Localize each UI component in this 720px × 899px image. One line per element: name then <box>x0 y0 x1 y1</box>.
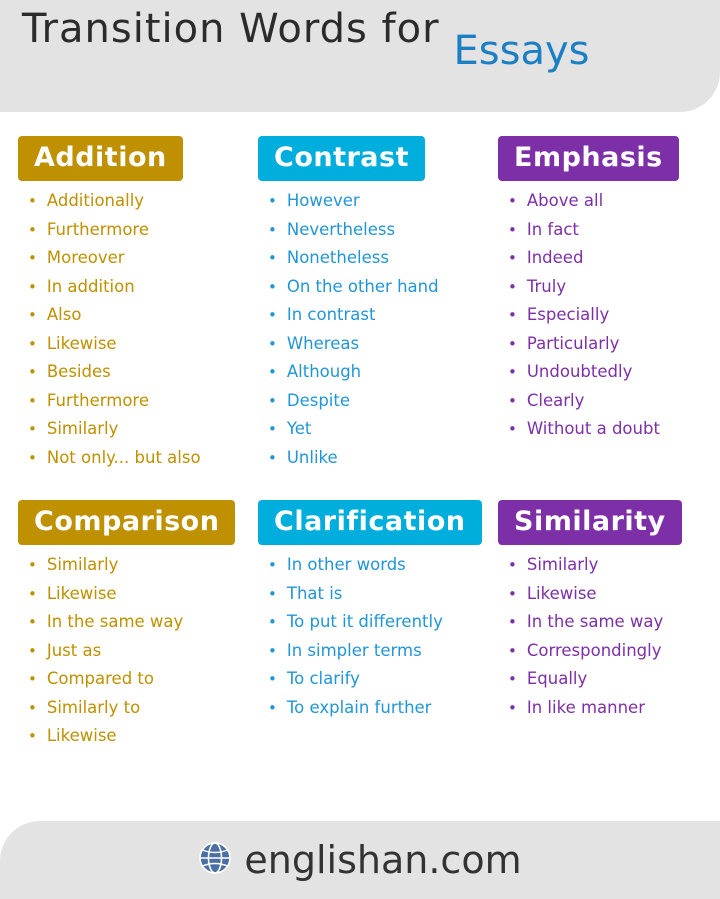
card-title-comparison: Comparison <box>18 500 235 545</box>
list-item-label: Nonetheless <box>287 250 389 267</box>
category-grid: Addition •Additionally •Furthermore •Mor… <box>0 112 720 757</box>
list-item: •Compared to <box>28 671 250 688</box>
list-item-label: Clearly <box>527 393 585 410</box>
list-item: •Likewise <box>28 336 250 353</box>
list-item: •To explain further <box>268 700 490 717</box>
list-item-label: In like manner <box>527 700 645 717</box>
list-item: •Not only... but also <box>28 450 250 467</box>
list-item-label: Additionally <box>47 193 144 210</box>
list-item-label: Just as <box>47 643 101 660</box>
list-item-label: Especially <box>527 307 609 324</box>
card-comparison: Comparison •Similarly •Likewise •In the … <box>18 500 250 757</box>
bullet-icon: • <box>508 337 517 352</box>
bullet-icon: • <box>268 223 277 238</box>
bullet-icon: • <box>28 308 37 323</box>
list-item-label: Likewise <box>47 586 117 603</box>
list-item-label: To explain further <box>287 700 432 717</box>
bullet-icon: • <box>268 558 277 573</box>
bullet-icon: • <box>268 615 277 630</box>
list-item-label: Similarly to <box>47 700 140 717</box>
list-item: •Moreover <box>28 250 250 267</box>
list-item-label: Despite <box>287 393 350 410</box>
list-item: •Nevertheless <box>268 222 490 239</box>
list-item: •Furthermore <box>28 393 250 410</box>
page-title: Transition Words for <box>22 6 440 52</box>
list-item: •Clearly <box>508 393 708 410</box>
bullet-icon: • <box>268 365 277 380</box>
bullet-icon: • <box>28 451 37 466</box>
list-item: •Unlike <box>268 450 490 467</box>
header-title-row: Transition Words for Essays <box>0 0 720 52</box>
list-item: •Despite <box>268 393 490 410</box>
list-item-label: Equally <box>527 671 587 688</box>
bullet-icon: • <box>28 422 37 437</box>
bullet-icon: • <box>28 615 37 630</box>
list-item: •Without a doubt <box>508 421 708 438</box>
bullet-icon: • <box>508 223 517 238</box>
bullet-icon: • <box>508 587 517 602</box>
list-contrast: •However •Nevertheless •Nonetheless •On … <box>258 193 490 466</box>
bullet-icon: • <box>268 194 277 209</box>
bullet-icon: • <box>268 308 277 323</box>
list-comparison: •Similarly •Likewise •In the same way •J… <box>18 557 250 745</box>
list-item-label: Undoubtedly <box>527 364 632 381</box>
bullet-icon: • <box>268 451 277 466</box>
list-item-label: Above all <box>527 193 603 210</box>
bullet-icon: • <box>508 615 517 630</box>
bullet-icon: • <box>508 558 517 573</box>
globe-icon <box>198 841 232 879</box>
list-item: •Similarly <box>28 557 250 574</box>
list-item-label: Moreover <box>47 250 125 267</box>
list-similarity: •Similarly •Likewise •In the same way •C… <box>498 557 708 716</box>
bullet-icon: • <box>268 701 277 716</box>
list-item-label: Particularly <box>527 336 620 353</box>
bullet-icon: • <box>28 587 37 602</box>
list-emphasis: •Above all •In fact •Indeed •Truly •Espe… <box>498 193 708 438</box>
list-item: •Just as <box>28 643 250 660</box>
list-item-label: Indeed <box>527 250 584 267</box>
list-item: •Undoubtedly <box>508 364 708 381</box>
list-item-label: Also <box>47 307 82 324</box>
list-item-label: Similarly <box>47 557 119 574</box>
list-item-label: Likewise <box>47 336 117 353</box>
page-header: Transition Words for Essays <box>0 0 720 112</box>
bullet-icon: • <box>268 587 277 602</box>
list-item-label: On the other hand <box>287 279 439 296</box>
list-item-label: Compared to <box>47 671 154 688</box>
bullet-icon: • <box>28 280 37 295</box>
bullet-icon: • <box>508 251 517 266</box>
list-item: •Although <box>268 364 490 381</box>
bullet-icon: • <box>508 194 517 209</box>
list-item-label: Besides <box>47 364 111 381</box>
bullet-icon: • <box>508 422 517 437</box>
list-item: •That is <box>268 586 490 603</box>
bullet-icon: • <box>28 701 37 716</box>
bullet-icon: • <box>268 394 277 409</box>
list-item-label: In other words <box>287 557 406 574</box>
list-item-label: Not only... but also <box>47 450 201 467</box>
list-item: •In contrast <box>268 307 490 324</box>
list-item-label: In addition <box>47 279 135 296</box>
list-item-label: Nevertheless <box>287 222 395 239</box>
bullet-icon: • <box>268 672 277 687</box>
bullet-icon: • <box>508 672 517 687</box>
bullet-icon: • <box>28 672 37 687</box>
bullet-icon: • <box>268 422 277 437</box>
card-similarity: Similarity •Similarly •Likewise •In the … <box>498 500 708 757</box>
bullet-icon: • <box>28 337 37 352</box>
list-item: •Especially <box>508 307 708 324</box>
bullet-icon: • <box>508 701 517 716</box>
card-clarification: Clarification •In other words •That is •… <box>258 500 490 757</box>
list-item: •Likewise <box>28 586 250 603</box>
card-emphasis: Emphasis •Above all •In fact •Indeed •Tr… <box>498 136 708 478</box>
list-item-label: In simpler terms <box>287 643 422 660</box>
list-item: •Besides <box>28 364 250 381</box>
list-addition: •Additionally •Furthermore •Moreover •In… <box>18 193 250 466</box>
bullet-icon: • <box>508 280 517 295</box>
list-item: •Likewise <box>28 728 250 745</box>
list-item-label: In fact <box>527 222 579 239</box>
card-title-emphasis: Emphasis <box>498 136 679 181</box>
list-item: •Nonetheless <box>268 250 490 267</box>
list-item-label: In the same way <box>47 614 183 631</box>
bullet-icon: • <box>508 308 517 323</box>
page-footer: englishan.com <box>0 821 720 899</box>
card-title-addition: Addition <box>18 136 183 181</box>
bullet-icon: • <box>508 365 517 380</box>
list-item: •However <box>268 193 490 210</box>
list-item-label: In the same way <box>527 614 663 631</box>
list-item: •In addition <box>28 279 250 296</box>
list-clarification: •In other words •That is •To put it diff… <box>258 557 490 716</box>
page-title-accent: Essays <box>454 28 590 74</box>
list-item-label: To put it differently <box>287 614 443 631</box>
bullet-icon: • <box>28 558 37 573</box>
list-item: •Above all <box>508 193 708 210</box>
list-item-label: Furthermore <box>47 222 149 239</box>
bullet-icon: • <box>28 251 37 266</box>
list-item: •Indeed <box>508 250 708 267</box>
bullet-icon: • <box>268 251 277 266</box>
list-item-label: To clarify <box>287 671 360 688</box>
list-item-label: Truly <box>527 279 566 296</box>
list-item: •In the same way <box>508 614 708 631</box>
list-item-label: Correspondingly <box>527 643 662 660</box>
list-item-label: Likewise <box>47 728 117 745</box>
list-item-label: Whereas <box>287 336 359 353</box>
list-item-label: Yet <box>287 421 312 438</box>
list-item: •Equally <box>508 671 708 688</box>
list-item-label: Although <box>287 364 361 381</box>
list-item-label: Furthermore <box>47 393 149 410</box>
list-item: •In other words <box>268 557 490 574</box>
footer-website-label: englishan.com <box>244 838 521 882</box>
bullet-icon: • <box>268 337 277 352</box>
bullet-icon: • <box>268 644 277 659</box>
bullet-icon: • <box>28 365 37 380</box>
bullet-icon: • <box>28 644 37 659</box>
list-item-label: Without a doubt <box>527 421 660 438</box>
list-item: •Furthermore <box>28 222 250 239</box>
list-item: •Similarly <box>28 421 250 438</box>
bullet-icon: • <box>508 394 517 409</box>
list-item: •Yet <box>268 421 490 438</box>
list-item: •On the other hand <box>268 279 490 296</box>
bullet-icon: • <box>508 644 517 659</box>
list-item: •Also <box>28 307 250 324</box>
list-item: •Correspondingly <box>508 643 708 660</box>
list-item-label: However <box>287 193 360 210</box>
list-item: •In simpler terms <box>268 643 490 660</box>
card-title-similarity: Similarity <box>498 500 682 545</box>
bullet-icon: • <box>268 280 277 295</box>
list-item-label: In contrast <box>287 307 376 324</box>
list-item-label: Likewise <box>527 586 597 603</box>
list-item: •To put it differently <box>268 614 490 631</box>
list-item: •Likewise <box>508 586 708 603</box>
list-item-label: That is <box>287 586 343 603</box>
list-item: •Truly <box>508 279 708 296</box>
list-item: •Additionally <box>28 193 250 210</box>
list-item: •In the same way <box>28 614 250 631</box>
list-item-label: Unlike <box>287 450 338 467</box>
list-item: •To clarify <box>268 671 490 688</box>
list-item: •In like manner <box>508 700 708 717</box>
list-item: •Similarly <box>508 557 708 574</box>
list-item-label: Similarly <box>527 557 599 574</box>
footer-brand: englishan.com <box>198 838 521 882</box>
list-item: •Similarly to <box>28 700 250 717</box>
bullet-icon: • <box>28 729 37 744</box>
bullet-icon: • <box>28 223 37 238</box>
list-item: •Particularly <box>508 336 708 353</box>
list-item-label: Similarly <box>47 421 119 438</box>
card-title-clarification: Clarification <box>258 500 482 545</box>
card-title-contrast: Contrast <box>258 136 425 181</box>
card-contrast: Contrast •However •Nevertheless •Nonethe… <box>258 136 490 478</box>
bullet-icon: • <box>28 194 37 209</box>
list-item: •Whereas <box>268 336 490 353</box>
list-item: •In fact <box>508 222 708 239</box>
bullet-icon: • <box>28 394 37 409</box>
card-addition: Addition •Additionally •Furthermore •Mor… <box>18 136 250 478</box>
